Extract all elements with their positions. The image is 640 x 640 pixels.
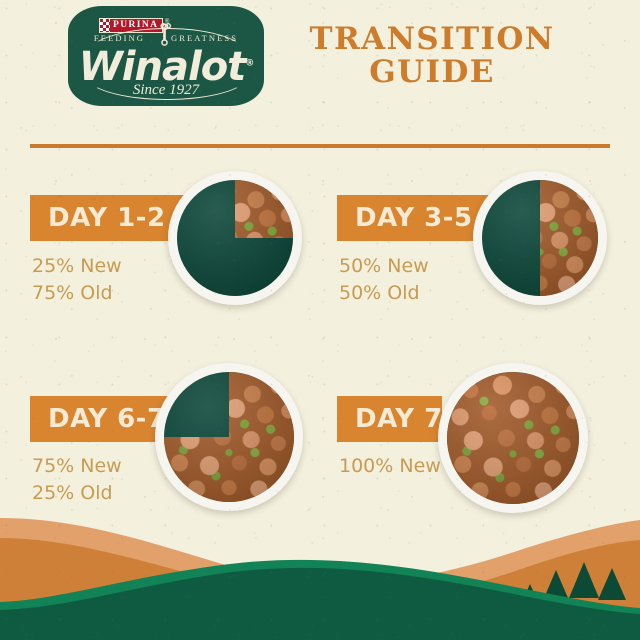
- bowl-inner-2: [482, 180, 598, 296]
- day-label-2: DAY 3-5: [337, 203, 473, 233]
- purina-checkerboard-icon: [100, 19, 110, 32]
- mix-ratio-3: 75% New 25% Old: [32, 453, 122, 507]
- mix-ratio-4: 100% New: [339, 453, 441, 480]
- food-bowl-2: [473, 171, 607, 305]
- mix-new-3: 75% New: [32, 453, 122, 480]
- mix-new-1: 25% New: [32, 253, 122, 280]
- food-bowl-3: [155, 363, 303, 511]
- bowl-shading-4: [447, 372, 579, 504]
- winalot-brand-badge: PURINA ® FEEDING GREATNESS Winalot® Sinc…: [68, 6, 264, 106]
- mix-old-1: 75% Old: [32, 280, 122, 307]
- page-title: TRANSITION GUIDE: [282, 23, 582, 89]
- tagline-greatness: GREATNESS: [171, 33, 238, 43]
- mix-ratio-2: 50% New 50% Old: [339, 253, 429, 307]
- bowl-inner-3: [164, 372, 294, 502]
- day-label-1: DAY 1-2: [30, 203, 166, 233]
- mix-old-3: 25% Old: [32, 480, 122, 507]
- mix-ratio-1: 25% New 75% Old: [32, 253, 122, 307]
- tagline-feeding: FEEDING: [94, 33, 145, 43]
- food-bowl-1: [168, 171, 302, 305]
- bowl-inner-1: [177, 180, 293, 296]
- bowl-shading-3: [164, 372, 294, 502]
- header-divider: [30, 144, 610, 148]
- day-banner-4: DAY 7-10: [337, 396, 442, 442]
- bowl-inner-4: [447, 372, 579, 504]
- landscape-illustration: [0, 510, 640, 640]
- day-label-3: DAY 6-7: [30, 404, 166, 434]
- food-bowl-4: [438, 363, 588, 513]
- since-text: Since 1927: [68, 82, 264, 99]
- winalot-registered-mark: ®: [245, 59, 253, 69]
- mix-old-2: 50% Old: [339, 280, 429, 307]
- mix-new-4: 100% New: [339, 453, 441, 480]
- mix-new-2: 50% New: [339, 253, 429, 280]
- transition-guide-infographic: PURINA ® FEEDING GREATNESS Winalot® Sinc…: [0, 0, 640, 640]
- bowl-shading-2: [482, 180, 598, 296]
- bowl-shading-1: [177, 180, 293, 296]
